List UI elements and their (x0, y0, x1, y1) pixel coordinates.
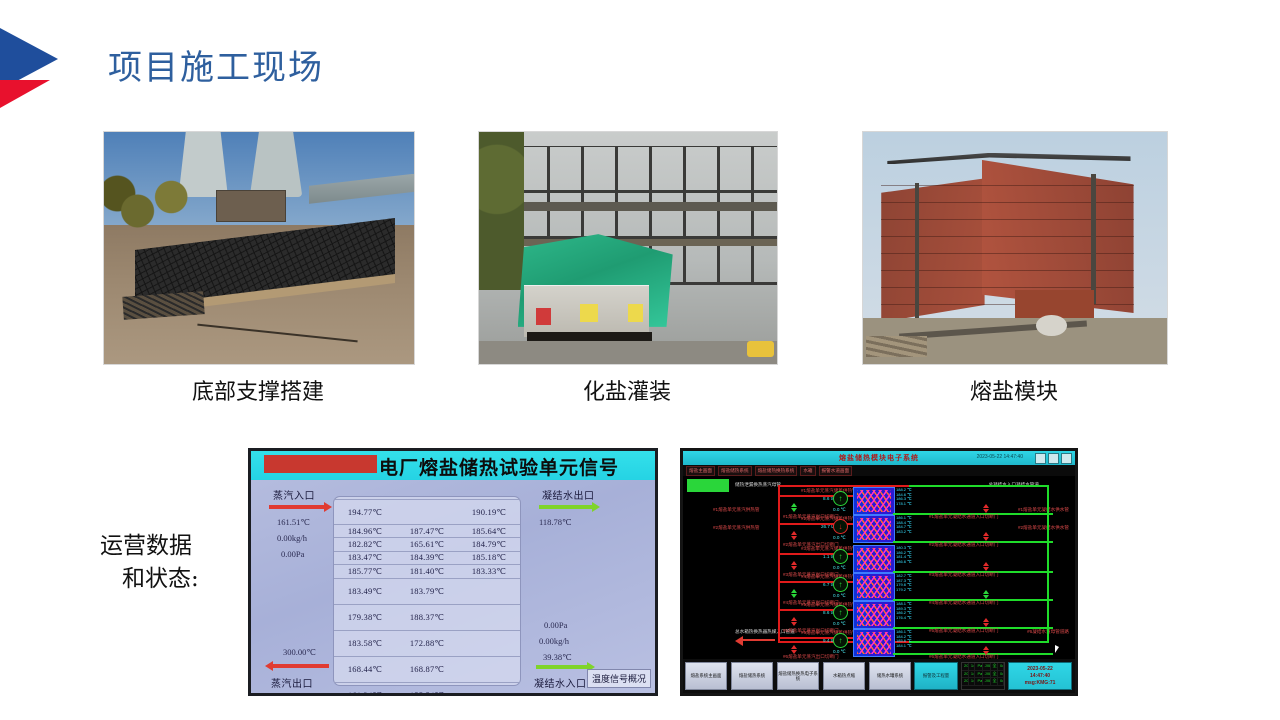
hmi-steam-outlet-label: 蒸汽出口 (271, 675, 313, 690)
table-cell: 184.96℃ (334, 526, 396, 537)
heat-exchanger-module-3[interactable] (853, 545, 895, 573)
scada-screenshot: 熔盐储热模块电子系统 2023-05-22 14:47:40 熔盐主画面 熔盐储… (680, 448, 1078, 696)
hmi-steam-inlet-temp: 161.51℃ (277, 517, 310, 528)
table-cell: 185.77℃ (334, 566, 396, 577)
temperature-signal-overview-button[interactable]: 温度信号概况 (587, 669, 651, 688)
water-tank-inlet-arrow-icon (743, 639, 775, 641)
scada-menu-bar: 熔盐主画面 熔盐储热系统 熔盐储热换热系统 水箱 报警水道画面 (683, 465, 1075, 476)
bottom-button-3[interactable]: 水箱热点缩 (823, 662, 865, 690)
module-2-temp: 0.0 ℃ (833, 535, 846, 541)
alarm-date: 2023-05-22 (962, 671, 969, 678)
module-2-temperatures: 186.1 ℃ 188.4 ℃ 184.7 ℃ 183.2 ℃ (896, 516, 912, 534)
table-cell: 185.64℃ (458, 526, 520, 537)
hmi-steam-inlet-pressure: 0.00Pa (281, 549, 304, 559)
table-row: 179.38℃ 188.37℃ (334, 605, 520, 631)
photo-foundation (103, 131, 415, 365)
window-controls[interactable] (1035, 453, 1072, 464)
condensate-header-bottom (909, 641, 1049, 643)
photo2-warning-sign-yellow-1 (580, 304, 598, 323)
hmi-steam-outlet-temp: 300.00℃ (283, 647, 316, 658)
scada-clock-msg: msg:KMG:71 (1025, 680, 1056, 686)
hmi-condensate-inlet-temp: 39.38℃ (543, 652, 572, 663)
scada-clock-time: 14:47:40 (1030, 673, 1050, 679)
photo2-ground (479, 341, 777, 364)
table-cell: 182.82℃ (334, 539, 396, 550)
module-2-return-valve-label: #2熔盐单元凝结水通道入口切断门 (929, 542, 998, 548)
bottom-button-1[interactable]: 熔盐储热系统 (731, 662, 773, 690)
alarm-time: 14:45:31 (969, 678, 976, 685)
condensate-inlet-arrow-icon (536, 665, 588, 669)
module-1-return-valve-icon[interactable] (983, 504, 990, 513)
hmi-steam-inlet-label: 蒸汽入口 (273, 487, 315, 502)
photo3-vertical-pipe-1 (915, 183, 920, 336)
table-row: 182.82℃ 165.61℃ 184.79℃ (334, 538, 520, 551)
hmi-condensate-inlet-label: 凝结水入口 (534, 675, 587, 690)
hmi-screen: 电厂熔盐储热试验单元信号 蒸汽入口 161.51℃ 0.00kg/h 0.00P… (251, 451, 655, 693)
module-6-pump-icon[interactable]: ↑ (833, 633, 848, 648)
table-row: 185.77℃ 181.40℃ 183.33℃ (334, 565, 520, 578)
module-5-outlet-valve-icon[interactable] (791, 617, 798, 626)
photo1-trees (104, 169, 216, 239)
table-cell: 183.33℃ (458, 566, 520, 577)
module-3-supply-label: #3熔盐单元蒸汽储蓄供热管 (801, 546, 857, 552)
scada-clock-panel: 2023-05-22 14:47:40 msg:KMG:71 (1008, 662, 1072, 690)
alarm-tag: Pa 1# Pa 0 (975, 663, 982, 670)
alarm-row: 2023-05-22 14:45:31 Pa 1# Pa 0 JXLD2#DVL… (962, 678, 1004, 686)
scada-title: 熔盐储热模块电子系统 (839, 453, 919, 463)
alarm-date: 2023-05-22 (962, 663, 969, 670)
hmi-condensate-inlet-flow: 0.00kg/h (539, 636, 569, 646)
photo3-vertical-pipe-2 (1091, 174, 1096, 304)
alarm-code: JXLD2#DVLSD0 (983, 678, 991, 685)
steam-outlet-arrow-icon (273, 664, 329, 668)
scada-bottom-bar: 熔盐系统主画面 熔盐储热系统 熔盐储热换热电子系统 水箱热点缩 储热水罐系统 报… (683, 659, 1075, 693)
table-cell: 185.18℃ (458, 552, 520, 563)
menu-item-3[interactable]: 水箱 (800, 466, 815, 476)
module-1-return-valve-label: #1熔盐单元凝结水通道入口切断门 (929, 514, 998, 520)
heat-exchanger-module-5[interactable] (853, 601, 895, 629)
table-row: 183.58℃ 172.88℃ (334, 631, 520, 657)
table-cell: 168.44℃ (334, 664, 396, 675)
alarm-tag: Pa 1# Pa 0 (975, 671, 982, 678)
module-2-temp-3: 183.2 ℃ (896, 529, 912, 534)
alarm-row: 2023-05-22 14:46:11 Pa 1# Pa 0 JXLD2#DVL… (962, 663, 1004, 671)
menu-item-2[interactable]: 熔盐储热换热系统 (755, 466, 798, 476)
module-1-outlet-valve-icon[interactable] (791, 503, 798, 512)
table-cell: 155.54℃ (396, 690, 458, 693)
module-4-pump-icon[interactable]: ↑ (833, 577, 848, 592)
table-cell: 181.40℃ (396, 566, 458, 577)
alarm-id: 0# (998, 663, 1004, 670)
module-3-return-valve-icon[interactable] (983, 562, 990, 571)
alarm-desc: 全用卡报警除 (991, 663, 998, 670)
alarm-desc: 全用卡报警除 (991, 678, 998, 685)
scada-right-note-2: #2熔盐单元凝结水供水管 (1018, 525, 1069, 531)
module-5-pump-icon[interactable]: ↑ (833, 605, 848, 620)
alarm-code: JXLD2#DVLSD0 (983, 671, 991, 678)
module-3-coil-icon (857, 548, 891, 570)
module-4-return-valve-label: #4熔盐单元凝结水通道入口切断门 (929, 600, 998, 606)
minimize-icon[interactable] (1035, 453, 1046, 464)
photo-caption-salt-module: 熔盐模块 (862, 374, 1166, 406)
module-6-supply-label: #6熔盐单元蒸汽储蓄供热管 (801, 630, 857, 636)
module-2-supply-pipe (780, 523, 860, 525)
condensate-header-top (909, 485, 1049, 487)
module-2-return-valve-icon[interactable] (983, 532, 990, 541)
table-cell: 187.47℃ (396, 526, 458, 537)
scada-screen: 熔盐储热模块电子系统 2023-05-22 14:47:40 熔盐主画面 熔盐储… (683, 451, 1075, 693)
mouse-cursor-icon (1055, 645, 1059, 653)
module-4-return-valve-icon[interactable] (983, 590, 990, 599)
module-5-return-valve-icon[interactable] (983, 618, 990, 627)
module-1-supply-label: #1熔盐单元蒸汽储蓄供热管 (801, 488, 857, 494)
module-1-coil-icon (857, 490, 891, 512)
alarm-log-table[interactable]: 2023-05-22 14:46:11 Pa 1# Pa 0 JXLD2#DVL… (961, 662, 1005, 690)
hmi-condensate-inlet-pressure: 0.00Pa (544, 620, 567, 630)
photo-caption-foundation: 底部支撑搭建 (103, 374, 413, 406)
bottom-button-2[interactable]: 熔盐储热换热电子系统 (777, 662, 819, 690)
operation-label-line1: 运营数据 (100, 533, 192, 559)
module-3-return-valve-label: #3熔盐单元凝结水通道入口切断门 (929, 572, 998, 578)
module-4-temp-3: 179.2 ℃ (896, 587, 912, 592)
operation-label-line2: 和状态: (100, 563, 250, 596)
table-row: 184.96℃ 187.47℃ 185.64℃ (334, 525, 520, 538)
alarm-code: JXLD2#DVLSD0 (983, 663, 991, 670)
table-row: 168.44℃ 168.87℃ (334, 657, 520, 683)
module-6-temp-3: 184.1 ℃ (896, 643, 912, 648)
module-2-pump-icon[interactable]: ↓ (833, 519, 848, 534)
module-3-temperatures: 180.3 ℃ 186.2 ℃ 181.4 ℃ 186.6 ℃ (896, 546, 912, 564)
heat-exchanger-module-6[interactable] (853, 629, 895, 657)
heat-exchanger-module-4[interactable] (853, 573, 895, 601)
module-4-temp: 0.0 ℃ (833, 593, 846, 599)
table-cell: 184.79℃ (458, 539, 520, 550)
hmi-title: 电厂熔盐储热试验单元信号 (379, 453, 619, 480)
module-2-outlet-valve-icon[interactable] (791, 531, 798, 540)
table-cell: 183.47℃ (334, 552, 396, 563)
photo3-valve (1036, 315, 1066, 336)
alarm-tab-button[interactable]: 报警及工程量 (914, 662, 958, 690)
heat-exchanger-module-1[interactable] (853, 487, 895, 515)
photo2-foliage (479, 132, 524, 290)
scada-left-note-2: #2熔盐单元蒸汽供热管 (713, 525, 759, 531)
photo-salt-module (862, 131, 1168, 365)
module-4-temperatures: 182.7 ℃ 187.3 ℃ 179.6 ℃ 179.2 ℃ (896, 574, 912, 592)
alarm-time: 14:46:11 (969, 663, 976, 670)
steam-header-vertical (778, 485, 780, 643)
maximize-icon[interactable] (1048, 453, 1059, 464)
condensate-outlet-arrow-icon (539, 505, 593, 509)
module-2-coil-icon (857, 518, 891, 540)
photo3-steel-stack (866, 336, 927, 357)
module-5-supply-pipe (780, 609, 860, 611)
alarm-id: 0# (998, 678, 1004, 685)
module-5-supply-label: #5熔盐单元蒸汽储蓄供热管 (801, 602, 857, 608)
hmi-temperature-table: 194.77℃ 190.19℃ 184.96℃ 187.47℃ 185.64℃ … (333, 496, 521, 686)
module-1-temperatures: 188.2 ℃ 184.6 ℃ 186.3 ℃ 178.1 ℃ (896, 488, 912, 506)
menu-item-1[interactable]: 熔盐储热系统 (718, 466, 752, 476)
hmi-steam-inlet-flow: 0.00kg/h (277, 533, 307, 543)
module-5-temp: 0.0 ℃ (833, 621, 846, 627)
table-cell: 183.49℃ (334, 586, 396, 597)
module-5-temp-3: 176.4 ℃ (896, 615, 912, 620)
alarm-tag: Pa 1# Pa 0 (975, 678, 982, 685)
logo-red-triangle (0, 80, 50, 108)
module-3-pump-icon[interactable]: ↑ (833, 549, 848, 564)
alarm-time: 14:46:47 (969, 671, 976, 678)
table-cell: 165.61℃ (396, 539, 458, 550)
condensate-header-vertical (1047, 485, 1049, 643)
scada-left-note-1: #1熔盐单元蒸汽供热管 (713, 507, 759, 513)
module-6-outlet-valve-icon[interactable] (791, 645, 798, 654)
table-cell: 183.58℃ (334, 638, 396, 649)
alarm-desc: 全用卡报警除 (991, 671, 998, 678)
photo2-yellow-equipment (747, 341, 774, 357)
alarm-row: 2023-05-22 14:46:47 Pa 1# Pa 0 JXLD2#DVL… (962, 671, 1004, 679)
table-row: 161.34℃ 155.54℃ (334, 683, 520, 693)
scada-clock-date: 2023-05-22 (1027, 666, 1053, 672)
table-row: 183.49℃ 183.79℃ (334, 579, 520, 605)
photo-salt-filling (478, 131, 778, 365)
module-6-supply-pipe (780, 637, 860, 639)
module-4-outlet-valve-icon[interactable] (791, 589, 798, 598)
table-cell: 190.19℃ (458, 507, 520, 518)
module-1-temp: 0.0 ℃ (833, 507, 846, 513)
module-1-temp-3: 178.1 ℃ (896, 501, 912, 506)
module-6-temperatures: 186.1 ℃ 184.2 ℃ 185.6 ℃ 184.1 ℃ (896, 630, 912, 648)
hmi-condensate-outlet-label: 凝结水出口 (542, 487, 595, 502)
hmi-screenshot: 电厂熔盐储热试验单元信号 蒸汽入口 161.51℃ 0.00kg/h 0.00P… (248, 448, 658, 696)
module-5-temperatures: 188.1 ℃ 189.3 ℃ 186.2 ℃ 176.4 ℃ (896, 602, 912, 620)
table-row: 183.47℃ 184.39℃ 185.18℃ (334, 552, 520, 565)
table-cell: 188.37℃ (396, 612, 458, 623)
table-cell: 172.88℃ (396, 638, 458, 649)
menu-item-4[interactable]: 报警水道画面 (819, 466, 853, 476)
operation-data-label: 运营数据 和状态: (100, 530, 250, 597)
arrow-logo (0, 28, 62, 114)
photo2-warning-sign-yellow-2 (628, 304, 643, 323)
module-4-supply-pipe (780, 581, 860, 583)
module-3-supply-pipe (780, 553, 860, 555)
table-cell: 161.34℃ (334, 690, 396, 693)
scada-header-clock: 2023-05-22 14:47:40 (977, 454, 1023, 460)
module-6-coil-icon (857, 632, 891, 654)
module-2-supply-label: #2熔盐单元蒸汽储蓄供热管 (801, 516, 857, 522)
table-cell: 184.39℃ (396, 552, 458, 563)
module-1-pump-icon[interactable]: ↑ (833, 491, 848, 506)
photo2-deck-upper (479, 202, 777, 211)
hmi-redaction-bar (264, 455, 377, 473)
scada-left-note-0: 储热泄漏换热蒸汽母管 (735, 482, 781, 488)
table-row: 194.77℃ 190.19℃ (334, 499, 520, 525)
bottom-button-0[interactable]: 熔盐系统主画面 (685, 662, 727, 690)
page-title: 项目施工现场 (108, 40, 324, 89)
steam-inlet-arrow-icon (269, 505, 325, 509)
hmi-condensate-outlet-temp: 118.78℃ (539, 517, 572, 528)
close-icon[interactable] (1061, 453, 1072, 464)
table-cell: 194.77℃ (334, 507, 396, 518)
table-cell: 183.79℃ (396, 586, 458, 597)
module-5-coil-icon (857, 604, 891, 626)
table-cell: 179.38℃ (334, 612, 396, 623)
module-3-temp-3: 186.6 ℃ (896, 559, 912, 564)
bottom-button-4[interactable]: 储热水罐系统 (869, 662, 911, 690)
menu-item-0[interactable]: 熔盐主画面 (686, 466, 715, 476)
photo2-warning-sign-red (536, 308, 551, 324)
module-4-supply-label: #4熔盐单元蒸汽储蓄供热管 (801, 574, 857, 580)
module-5-return-valve-label: #5熔盐单元凝结水通道入口切断门 (929, 628, 998, 634)
alarm-id: 0# (998, 671, 1004, 678)
heat-exchanger-module-2[interactable] (853, 515, 895, 543)
alarm-date: 2023-05-22 (962, 678, 969, 685)
photo-caption-salt-filling: 化盐灌装 (478, 374, 776, 406)
module-3-temp: 0.0 ℃ (833, 565, 846, 571)
module-1-supply-pipe (780, 495, 860, 497)
photo1-shed (216, 190, 286, 222)
module-4-coil-icon (857, 576, 891, 598)
system-status-indicator (687, 479, 729, 492)
module-3-outlet-valve-icon[interactable] (791, 561, 798, 570)
table-cell: 168.87℃ (396, 664, 458, 675)
